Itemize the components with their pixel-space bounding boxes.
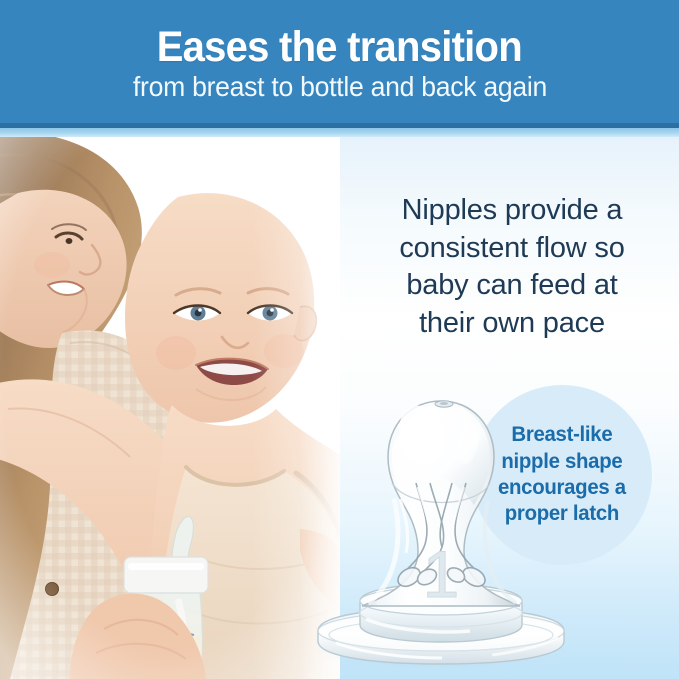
header-accent-strip <box>0 128 679 137</box>
description-line-3: baby can feed at <box>352 267 672 305</box>
nipple-product-image: 1 <box>296 387 586 679</box>
header-text-group: Eases the transition from breast to bott… <box>0 0 679 128</box>
description-line-2: consistent flow so <box>352 230 672 268</box>
feature-description: Nipples provide a consistent flow so bab… <box>352 192 672 343</box>
lifestyle-photo <box>0 137 340 679</box>
page-title: Eases the transition <box>157 26 522 69</box>
product-feature-graphic: Eases the transition from breast to bott… <box>0 0 679 679</box>
description-line-4: their own pace <box>352 305 672 343</box>
description-line-1: Nipples provide a <box>352 192 672 230</box>
content-canvas: Nipples provide a consistent flow so bab… <box>0 137 679 679</box>
flow-level-number: 1 <box>423 537 460 611</box>
mother-and-baby-illustration <box>0 137 340 679</box>
page-subtitle: from breast to bottle and back again <box>132 72 546 101</box>
header-banner: Eases the transition from breast to bott… <box>0 0 679 128</box>
silicone-nipple-illustration: 1 <box>296 387 586 679</box>
